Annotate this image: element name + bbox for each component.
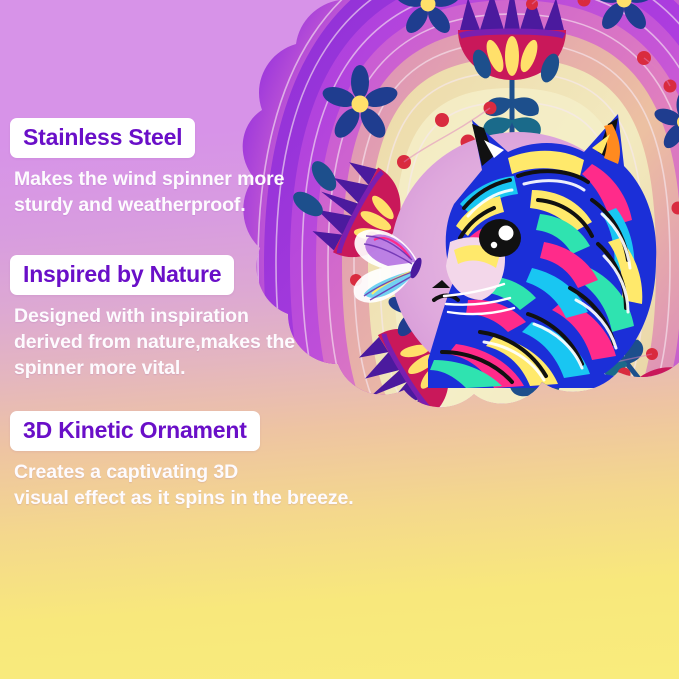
cat-eye [479,219,521,257]
feature-list: Stainless Steel Makes the wind spinner m… [0,0,400,679]
feature-chip-3d-kinetic-ornament: 3D Kinetic Ornament [10,411,260,451]
feature-description-3d-kinetic-ornament: Creates a captivating 3D visual effect a… [14,460,354,512]
feature-description-inspired-by-nature: Designed with inspiration derived from n… [14,304,295,382]
feature-description-line: Makes the wind spinner more [14,167,284,193]
feature-block-inspired-by-nature: Inspired by Nature Designed with inspira… [10,255,295,382]
feature-description-line: sturdy and weatherproof. [14,193,284,219]
feature-description-line: Creates a captivating 3D [14,460,354,486]
feature-block-3d-kinetic-ornament: 3D Kinetic Ornament Creates a captivatin… [10,411,354,512]
bottom-grommet [504,568,520,584]
feature-chip-inspired-by-nature: Inspired by Nature [10,255,234,295]
feature-description-line: spinner more vital. [14,356,295,382]
feature-chip-stainless-steel: Stainless Steel [10,118,195,158]
product-feature-image: Stainless Steel Makes the wind spinner m… [0,0,679,679]
feature-description-stainless-steel: Makes the wind spinner more sturdy and w… [14,167,284,219]
feature-description-line: visual effect as it spins in the breeze. [14,486,354,512]
feature-description-line: derived from nature,makes the [14,330,295,356]
feature-description-line: Designed with inspiration [14,304,295,330]
feature-title-inspired-by-nature: Inspired by Nature [23,262,221,287]
feature-title-3d-kinetic-ornament: 3D Kinetic Ornament [23,418,247,443]
feature-block-stainless-steel: Stainless Steel Makes the wind spinner m… [10,118,284,219]
feature-title-stainless-steel: Stainless Steel [23,125,182,150]
